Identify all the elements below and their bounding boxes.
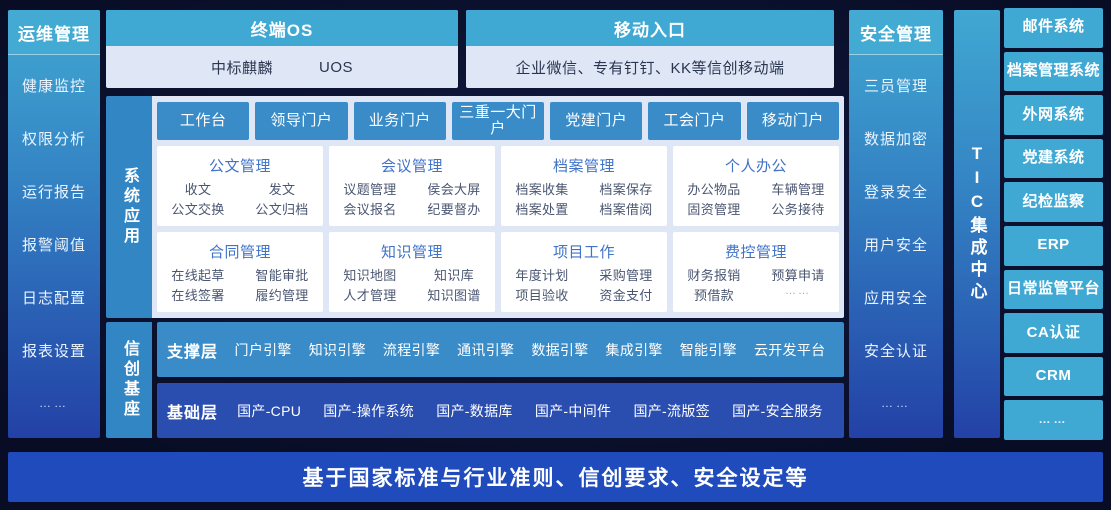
app-card-items: 档案收集 档案保存 档案处置 档案借阅 [505,179,663,218]
ops-item-report-settings[interactable]: 报表设置 [8,344,100,361]
app-card-item[interactable]: 在线签署 [161,285,235,304]
app-card-item[interactable]: 年度计划 [505,265,579,284]
base-item-middleware[interactable]: 国产-中间件 [535,401,611,421]
app-card-title: 个人办公 [725,155,787,176]
system-item-party-building[interactable]: 党建系统 [1004,139,1103,179]
system-item-crm[interactable]: CRM [1004,357,1103,397]
app-card-item[interactable]: 资金支付 [589,285,663,304]
app-card-contract-management[interactable]: 合同管理 在线起草 智能审批 在线签署 履约管理 [157,232,323,312]
app-card-title: 项目工作 [553,241,615,262]
app-card-item[interactable]: 议题管理 [333,179,407,198]
system-item-more: …… [1004,400,1103,440]
app-card-item[interactable]: 知识地图 [333,265,407,284]
app-card-expense-control[interactable]: 费控管理 财务报销 预算申请 预借款 …… [673,232,839,312]
system-application-label: 系统应用 [106,96,152,318]
base-layer-label: 基础层 [167,399,218,423]
ops-item-health-monitoring[interactable]: 健康监控 [8,79,100,96]
security-item-application-security[interactable]: 应用安全 [849,291,943,308]
application-cards-grid: 公文管理 收文 发文 公文交换 公文归档 会议管理 议题管理 侯会大屏 会议报名… [157,146,839,312]
app-card-items: 财务报销 预算申请 预借款 …… [677,265,835,304]
system-item-erp[interactable]: ERP [1004,226,1103,266]
security-item-three-member[interactable]: 三员管理 [849,79,943,96]
app-card-item[interactable]: 知识图谱 [417,285,491,304]
portal-tab-mobile[interactable]: 移动门户 [747,102,839,140]
base-item-security-service[interactable]: 国产-安全服务 [732,401,823,421]
app-card-item[interactable]: 档案处置 [505,199,579,218]
portal-tab-three-major-one-large[interactable]: 三重一大门户 [452,102,544,140]
system-item-daily-supervision-platform[interactable]: 日常监管平台 [1004,270,1103,310]
app-card-title: 档案管理 [553,155,615,176]
portal-tab-labor-union[interactable]: 工会门户 [648,102,740,140]
security-management-column: 安全管理 三员管理 数据加密 登录安全 用户安全 应用安全 安全认证 …… [849,10,943,438]
app-card-items: 收文 发文 公文交换 公文归档 [161,179,319,218]
security-item-user-security[interactable]: 用户安全 [849,238,943,255]
tic-integration-center-column: TIC集成中心 [954,10,1000,438]
bottom-banner-text: 基于国家标准与行业准则、信创要求、安全设定等 [303,462,809,492]
mobile-entry-box: 移动入口 企业微信、专有钉钉、KK等信创移动端 [466,10,834,88]
app-card-item[interactable]: 财务报销 [677,265,751,284]
ops-item-permission-analysis[interactable]: 权限分析 [8,132,100,149]
ops-management-title: 运维管理 [8,10,100,55]
portal-tabs-row: 工作台 领导门户 业务门户 三重一大门户 党建门户 工会门户 移动门户 [157,102,839,140]
app-card-item[interactable]: 预算申请 [761,265,835,284]
app-card-knowledge-management[interactable]: 知识管理 知识地图 知识库 人才管理 知识图谱 [329,232,495,312]
support-layer-row: 支撑层 门户引擎 知识引擎 流程引擎 通讯引擎 数据引擎 集成引擎 智能引擎 云… [157,322,844,377]
app-card-item[interactable]: 档案借阅 [589,199,663,218]
support-layer-items: 门户引擎 知识引擎 流程引擎 通讯引擎 数据引擎 集成引擎 智能引擎 云开发平台 [226,340,834,360]
app-card-item[interactable]: 智能审批 [245,265,319,284]
app-card-item[interactable]: 发文 [245,179,319,198]
terminal-os-title: 终端OS [106,10,458,46]
app-card-item[interactable]: 车辆管理 [761,179,835,198]
app-card-item[interactable]: 知识库 [417,265,491,284]
base-layer-row: 基础层 国产-CPU 国产-操作系统 国产-数据库 国产-中间件 国产-流版签 … [157,383,844,438]
system-item-external-network[interactable]: 外网系统 [1004,95,1103,135]
app-card-title: 公文管理 [209,155,271,176]
support-item-knowledge-engine[interactable]: 知识引擎 [309,340,366,360]
app-card-item[interactable]: 在线起草 [161,265,235,284]
terminal-os-box: 终端OS 中标麒麟 UOS [106,10,458,88]
app-card-meeting-management[interactable]: 会议管理 议题管理 侯会大屏 会议报名 纪要督办 [329,146,495,226]
support-item-communication-engine[interactable]: 通讯引擎 [457,340,514,360]
app-card-items: 年度计划 采购管理 项目验收 资金支付 [505,265,663,304]
external-systems-column: 邮件系统 档案管理系统 外网系统 党建系统 纪检监察 ERP 日常监管平台 CA… [1004,8,1103,440]
app-card-item[interactable]: 固资管理 [677,199,751,218]
app-card-item[interactable]: 档案收集 [505,179,579,198]
base-item-operating-system[interactable]: 国产-操作系统 [323,401,414,421]
app-card-title: 费控管理 [725,241,787,262]
support-item-integration-engine[interactable]: 集成引擎 [606,340,663,360]
app-card-item[interactable]: 项目验收 [505,285,579,304]
app-card-item[interactable]: 人才管理 [333,285,407,304]
support-item-data-engine[interactable]: 数据引擎 [531,340,588,360]
app-card-item[interactable]: 公文归档 [245,199,319,218]
system-item-discipline-inspection[interactable]: 纪检监察 [1004,182,1103,222]
app-card-archive-management[interactable]: 档案管理 档案收集 档案保存 档案处置 档案借阅 [501,146,667,226]
app-card-items: 在线起草 智能审批 在线签署 履约管理 [161,265,319,304]
app-card-items: 议题管理 侯会大屏 会议报名 纪要督办 [333,179,491,218]
portal-tab-workbench[interactable]: 工作台 [157,102,249,140]
app-card-project-work[interactable]: 项目工作 年度计划 采购管理 项目验收 资金支付 [501,232,667,312]
system-application-section: 系统应用 工作台 领导门户 业务门户 三重一大门户 党建门户 工会门户 移动门户… [106,96,844,318]
tic-integration-center-label: TIC集成中心 [969,144,986,304]
ops-management-items: 健康监控 权限分析 运行报告 报警阈值 日志配置 报表设置 …… [8,55,100,438]
base-layer-items: 国产-CPU 国产-操作系统 国产-数据库 国产-中间件 国产-流版签 国产-安… [226,401,834,421]
system-item-ca-certification[interactable]: CA认证 [1004,313,1103,353]
security-item-login-security[interactable]: 登录安全 [849,185,943,202]
app-card-item-more: …… [761,285,835,304]
support-layer-label: 支撑层 [167,338,218,362]
security-item-more: …… [849,397,943,410]
foundation-section: 信创基座 支撑层 门户引擎 知识引擎 流程引擎 通讯引擎 数据引擎 集成引擎 智… [106,322,844,438]
app-card-item[interactable]: 侯会大屏 [417,179,491,198]
support-item-cloud-dev-platform[interactable]: 云开发平台 [754,340,826,360]
app-card-items: 知识地图 知识库 人才管理 知识图谱 [333,265,491,304]
ops-item-log-config[interactable]: 日志配置 [8,291,100,308]
system-item-mail[interactable]: 邮件系统 [1004,8,1103,48]
diagram-root: 运维管理 健康监控 权限分析 运行报告 报警阈值 日志配置 报表设置 …… 终端… [0,0,1111,510]
app-card-item[interactable]: 档案保存 [589,179,663,198]
security-item-security-certification[interactable]: 安全认证 [849,344,943,361]
app-card-personal-office[interactable]: 个人办公 办公物品 车辆管理 固资管理 公务接待 [673,146,839,226]
system-item-archive-management[interactable]: 档案管理系统 [1004,52,1103,92]
security-management-title: 安全管理 [849,10,943,55]
app-card-title: 合同管理 [209,241,271,262]
app-card-document-management[interactable]: 公文管理 收文 发文 公文交换 公文归档 [157,146,323,226]
portal-tab-business[interactable]: 业务门户 [354,102,446,140]
support-item-intelligent-engine[interactable]: 智能引擎 [680,340,737,360]
ops-item-alarm-threshold[interactable]: 报警阈值 [8,238,100,255]
app-card-item[interactable]: 公务接待 [761,199,835,218]
ops-management-column: 运维管理 健康监控 权限分析 运行报告 报警阈值 日志配置 报表设置 …… [8,10,100,438]
foundation-panel: 支撑层 门户引擎 知识引擎 流程引擎 通讯引擎 数据引擎 集成引擎 智能引擎 云… [152,322,844,438]
ops-item-more: …… [8,397,100,410]
terminal-os-items: 中标麒麟 UOS [106,46,458,88]
portal-tab-leader[interactable]: 领导门户 [255,102,347,140]
app-card-item[interactable]: 履约管理 [245,285,319,304]
terminal-os-item-kylin: 中标麒麟 [211,57,273,78]
ops-item-runtime-report[interactable]: 运行报告 [8,185,100,202]
app-card-item[interactable]: 会议报名 [333,199,407,218]
mobile-entry-title: 移动入口 [466,10,834,46]
app-card-title: 会议管理 [381,155,443,176]
app-card-item[interactable]: 采购管理 [589,265,663,284]
system-application-panel: 工作台 领导门户 业务门户 三重一大门户 党建门户 工会门户 移动门户 公文管理… [152,96,844,318]
app-card-item[interactable]: 预借款 [677,285,751,304]
terminal-os-item-uos: UOS [319,59,353,76]
mobile-entry-item-apps: 企业微信、专有钉钉、KK等信创移动端 [515,57,784,78]
app-card-items: 办公物品 车辆管理 固资管理 公务接待 [677,179,835,218]
security-item-data-encryption[interactable]: 数据加密 [849,132,943,149]
security-management-items: 三员管理 数据加密 登录安全 用户安全 应用安全 安全认证 …… [849,55,943,438]
base-item-cpu[interactable]: 国产-CPU [237,401,301,421]
bottom-banner: 基于国家标准与行业准则、信创要求、安全设定等 [8,452,1103,502]
mobile-entry-items: 企业微信、专有钉钉、KK等信创移动端 [466,46,834,88]
app-card-item[interactable]: 收文 [161,179,235,198]
app-card-item[interactable]: 公文交换 [161,199,235,218]
base-item-document-signature[interactable]: 国产-流版签 [633,401,709,421]
support-item-portal-engine[interactable]: 门户引擎 [235,340,292,360]
app-card-item[interactable]: 办公物品 [677,179,751,198]
app-card-title: 知识管理 [381,241,443,262]
app-card-item[interactable]: 纪要督办 [417,199,491,218]
support-item-process-engine[interactable]: 流程引擎 [383,340,440,360]
portal-tab-party-building[interactable]: 党建门户 [550,102,642,140]
foundation-label: 信创基座 [106,322,152,438]
base-item-database[interactable]: 国产-数据库 [436,401,512,421]
